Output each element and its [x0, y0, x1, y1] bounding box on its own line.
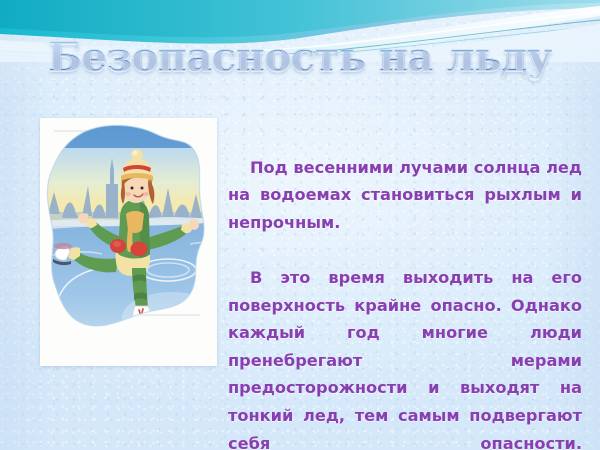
top-wave-decoration — [0, 0, 600, 62]
wave-ribbon-icon — [0, 0, 600, 62]
presentation-slide: Безопасность на льду — [0, 0, 600, 450]
paragraph-2: В это время выходить на его поверхность … — [228, 264, 582, 450]
paragraph-1: Под весенними лучами солнца лед на водое… — [228, 154, 582, 237]
ice-skating-scene-icon — [40, 118, 217, 366]
illustration-girl-ice-skating — [40, 118, 217, 366]
slide-body-text: Под весенними лучами солнца лед на водое… — [228, 126, 582, 450]
